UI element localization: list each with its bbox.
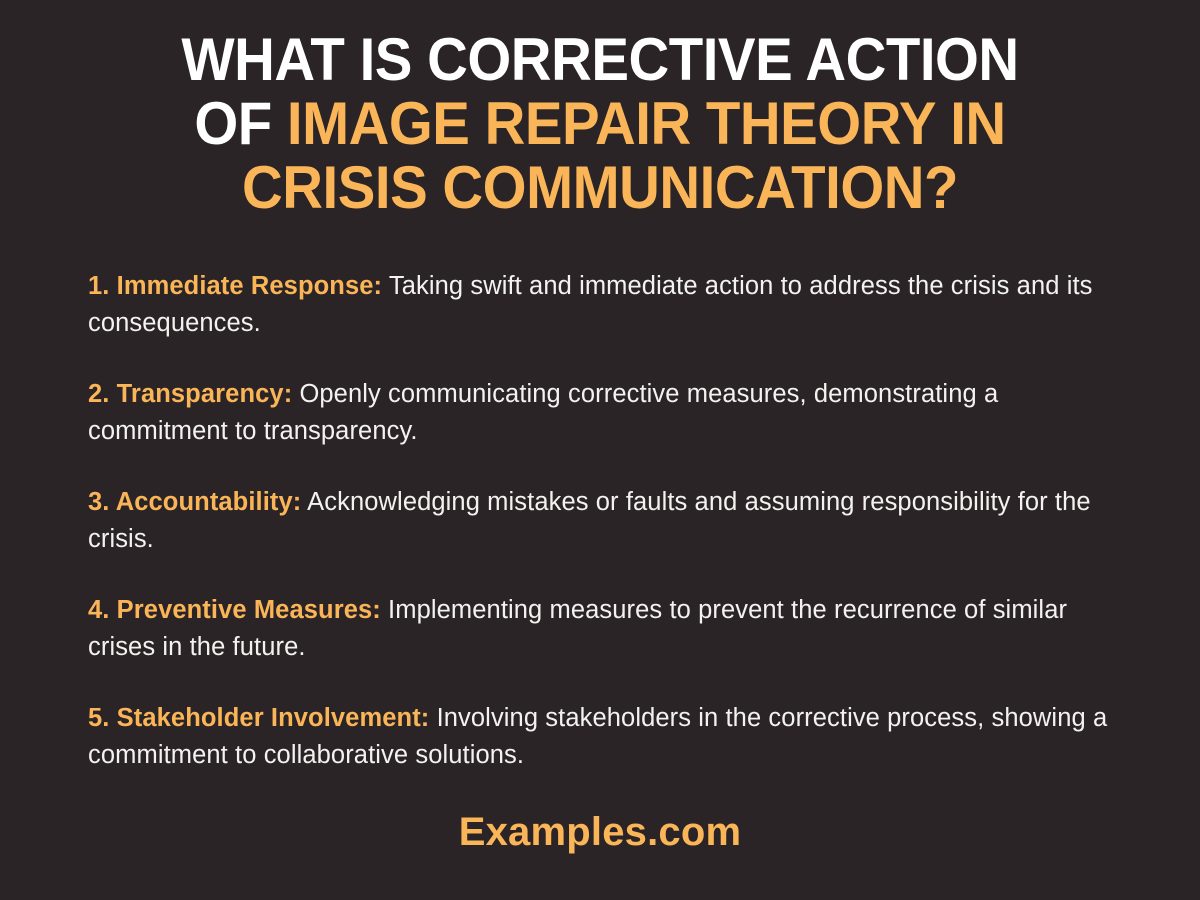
title-line-3-text: CRISIS COMMUNICATION? bbox=[242, 154, 958, 221]
list-item-label: 1. Immediate Response: bbox=[88, 272, 382, 300]
title-line-3: CRISIS COMMUNICATION? bbox=[92, 156, 1107, 220]
list-item: 2. Transparency: Openly communicating co… bbox=[88, 376, 1114, 450]
list-item: 5. Stakeholder Involvement: Involving st… bbox=[88, 700, 1114, 774]
title-line-2-accent: IMAGE REPAIR THEORY IN bbox=[287, 90, 1006, 157]
footer: Examples.com bbox=[0, 808, 1200, 856]
list-item: 4. Preventive Measures: Implementing mea… bbox=[88, 592, 1114, 666]
list-item: 3. Accountability: Acknowledging mistake… bbox=[88, 484, 1114, 558]
title-line-1-text: WHAT IS CORRECTIVE ACTION bbox=[181, 26, 1018, 93]
title-line-1: WHAT IS CORRECTIVE ACTION bbox=[92, 28, 1107, 92]
list-item-label: 3. Accountability: bbox=[88, 488, 301, 516]
list-item-label: 5. Stakeholder Involvement: bbox=[88, 704, 429, 732]
title-line-2: OF IMAGE REPAIR THEORY IN bbox=[92, 92, 1107, 156]
list-item-label: 2. Transparency: bbox=[88, 380, 292, 408]
list-item-label: 4. Preventive Measures: bbox=[88, 596, 381, 624]
points-list: 1. Immediate Response: Taking swift and … bbox=[88, 268, 1114, 774]
title-line-2-prefix: OF bbox=[194, 90, 287, 157]
page-title: WHAT IS CORRECTIVE ACTION OF IMAGE REPAI… bbox=[60, 28, 1140, 220]
brand-logo-text[interactable]: Examples.com bbox=[459, 808, 742, 856]
infographic-poster: WHAT IS CORRECTIVE ACTION OF IMAGE REPAI… bbox=[0, 0, 1200, 900]
list-item: 1. Immediate Response: Taking swift and … bbox=[88, 268, 1114, 342]
